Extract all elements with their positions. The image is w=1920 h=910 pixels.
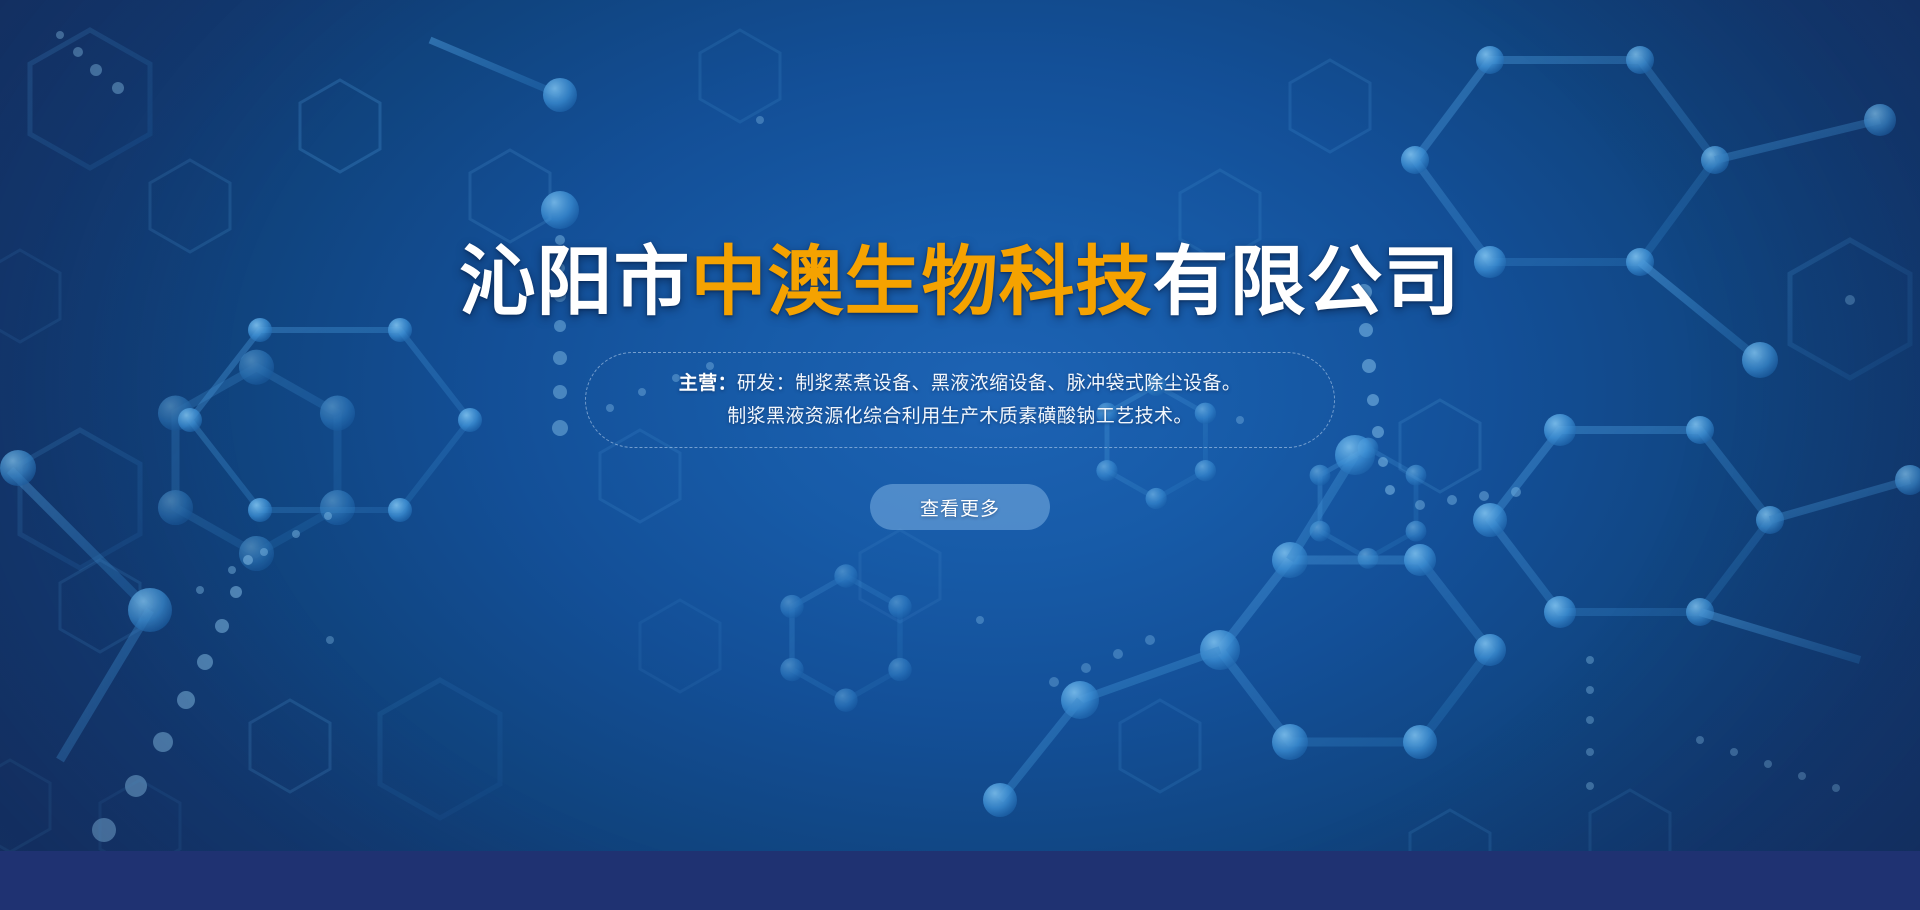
- page-root: 沁阳市中澳生物科技有限公司 主营：研发：制浆蒸煮设备、黑液浓缩设备、脉冲袋式除尘…: [0, 0, 1920, 910]
- page-title-prefix: 沁阳市: [460, 240, 691, 325]
- page-title-accent: 中澳生物科技: [691, 240, 1153, 325]
- business-scope-line-1: 主营：研发：制浆蒸煮设备、黑液浓缩设备、脉冲袋式除尘设备。: [679, 367, 1242, 400]
- footer-strip: [0, 851, 1920, 910]
- view-more-button[interactable]: 查看更多: [870, 484, 1050, 530]
- business-scope-line-1-text: 研发：制浆蒸煮设备、黑液浓缩设备、脉冲袋式除尘设备。: [737, 373, 1241, 394]
- business-scope-line-2: 制浆黑液资源化综合利用生产木质素磺酸钠工艺技术。: [727, 400, 1193, 433]
- business-scope-label: 主营：: [679, 373, 737, 394]
- hero-content: 沁阳市中澳生物科技有限公司 主营：研发：制浆蒸煮设备、黑液浓缩设备、脉冲袋式除尘…: [0, 0, 1920, 851]
- page-title: 沁阳市中澳生物科技有限公司: [460, 243, 1461, 322]
- page-title-suffix: 有限公司: [1153, 240, 1461, 325]
- business-scope-box: 主营：研发：制浆蒸煮设备、黑液浓缩设备、脉冲袋式除尘设备。 制浆黑液资源化综合利…: [585, 352, 1335, 448]
- hero-banner: 沁阳市中澳生物科技有限公司 主营：研发：制浆蒸煮设备、黑液浓缩设备、脉冲袋式除尘…: [0, 0, 1920, 851]
